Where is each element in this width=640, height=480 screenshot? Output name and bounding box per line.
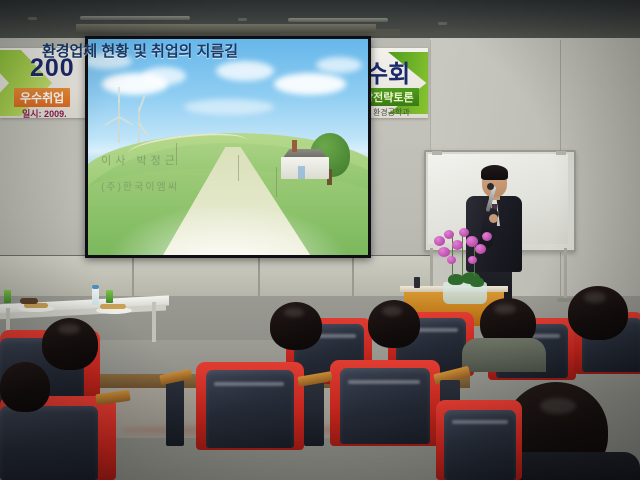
- seat-armrest-side: [166, 380, 184, 446]
- snack-item: [20, 298, 38, 304]
- cabinet-seam: [352, 257, 354, 297]
- audience-head: [0, 362, 50, 412]
- speaker-hand: [489, 214, 498, 223]
- speaker-hair: [481, 165, 508, 180]
- seat-cushion[interactable]: [0, 406, 98, 480]
- orchid-bloom: [452, 240, 463, 250]
- ceiling-light-fixture: [80, 16, 190, 20]
- slide-turbine-blade: [119, 116, 134, 126]
- wainscot-panel: [0, 256, 430, 296]
- ceiling-vent: [28, 17, 37, 20]
- banner-date-line: 일시: 2009.: [22, 107, 67, 120]
- slide-house: [281, 157, 329, 179]
- slide-house-door: [298, 166, 305, 179]
- slide-turbine-blade: [118, 87, 120, 103]
- orchid-bloom: [434, 236, 445, 246]
- slide-title: 환경업체 현황 및 취업의 지름길: [0, 40, 280, 61]
- slide-turbine-blade: [138, 96, 145, 112]
- whiteboard-clip: [556, 151, 566, 155]
- slide-wind-turbine: [118, 101, 120, 143]
- orchid-bloom: [475, 244, 486, 254]
- orchid-bloom: [482, 232, 492, 241]
- beverage-can: [106, 290, 113, 303]
- table-leg: [152, 302, 156, 342]
- slide-presenter: 이사 박정근: [0, 152, 280, 168]
- ceiling-light-fixture: [288, 18, 388, 22]
- projection-screen-rail: [76, 24, 376, 33]
- lecture-hall-photo: 200 우수취업 일시: 2009. 수회 강전략토론 학교 환경공학과: [0, 0, 640, 480]
- whiteboard-clip: [432, 151, 442, 155]
- orchid-bloom: [444, 230, 454, 239]
- seat-armrest-side: [304, 382, 324, 446]
- projected-slide: [88, 39, 368, 255]
- orchid-bloom: [459, 228, 469, 237]
- bottle-cap: [92, 285, 99, 289]
- orchid-bloom: [447, 256, 456, 264]
- cabinet-seam: [258, 257, 260, 297]
- ceiling-vent: [238, 18, 247, 21]
- audience-shoulders: [462, 338, 546, 372]
- orchid-bloom: [468, 256, 477, 264]
- slide-company: (주)한국이엠씨: [0, 178, 280, 193]
- banner-right-title: 수회: [366, 54, 410, 89]
- orchid-leaf: [470, 277, 484, 287]
- banner-orange-badge: 우수취업: [14, 88, 70, 107]
- cabinet-seam: [132, 257, 134, 297]
- lectern-item: [414, 277, 420, 288]
- beverage-can: [4, 290, 11, 303]
- whiteboard-leg: [564, 248, 567, 300]
- ceiling-vent: [438, 22, 447, 25]
- microphone-head-icon: [487, 183, 494, 190]
- snack-item: [100, 304, 126, 309]
- slide-chimney: [292, 140, 297, 152]
- orchid-bloom: [438, 247, 450, 257]
